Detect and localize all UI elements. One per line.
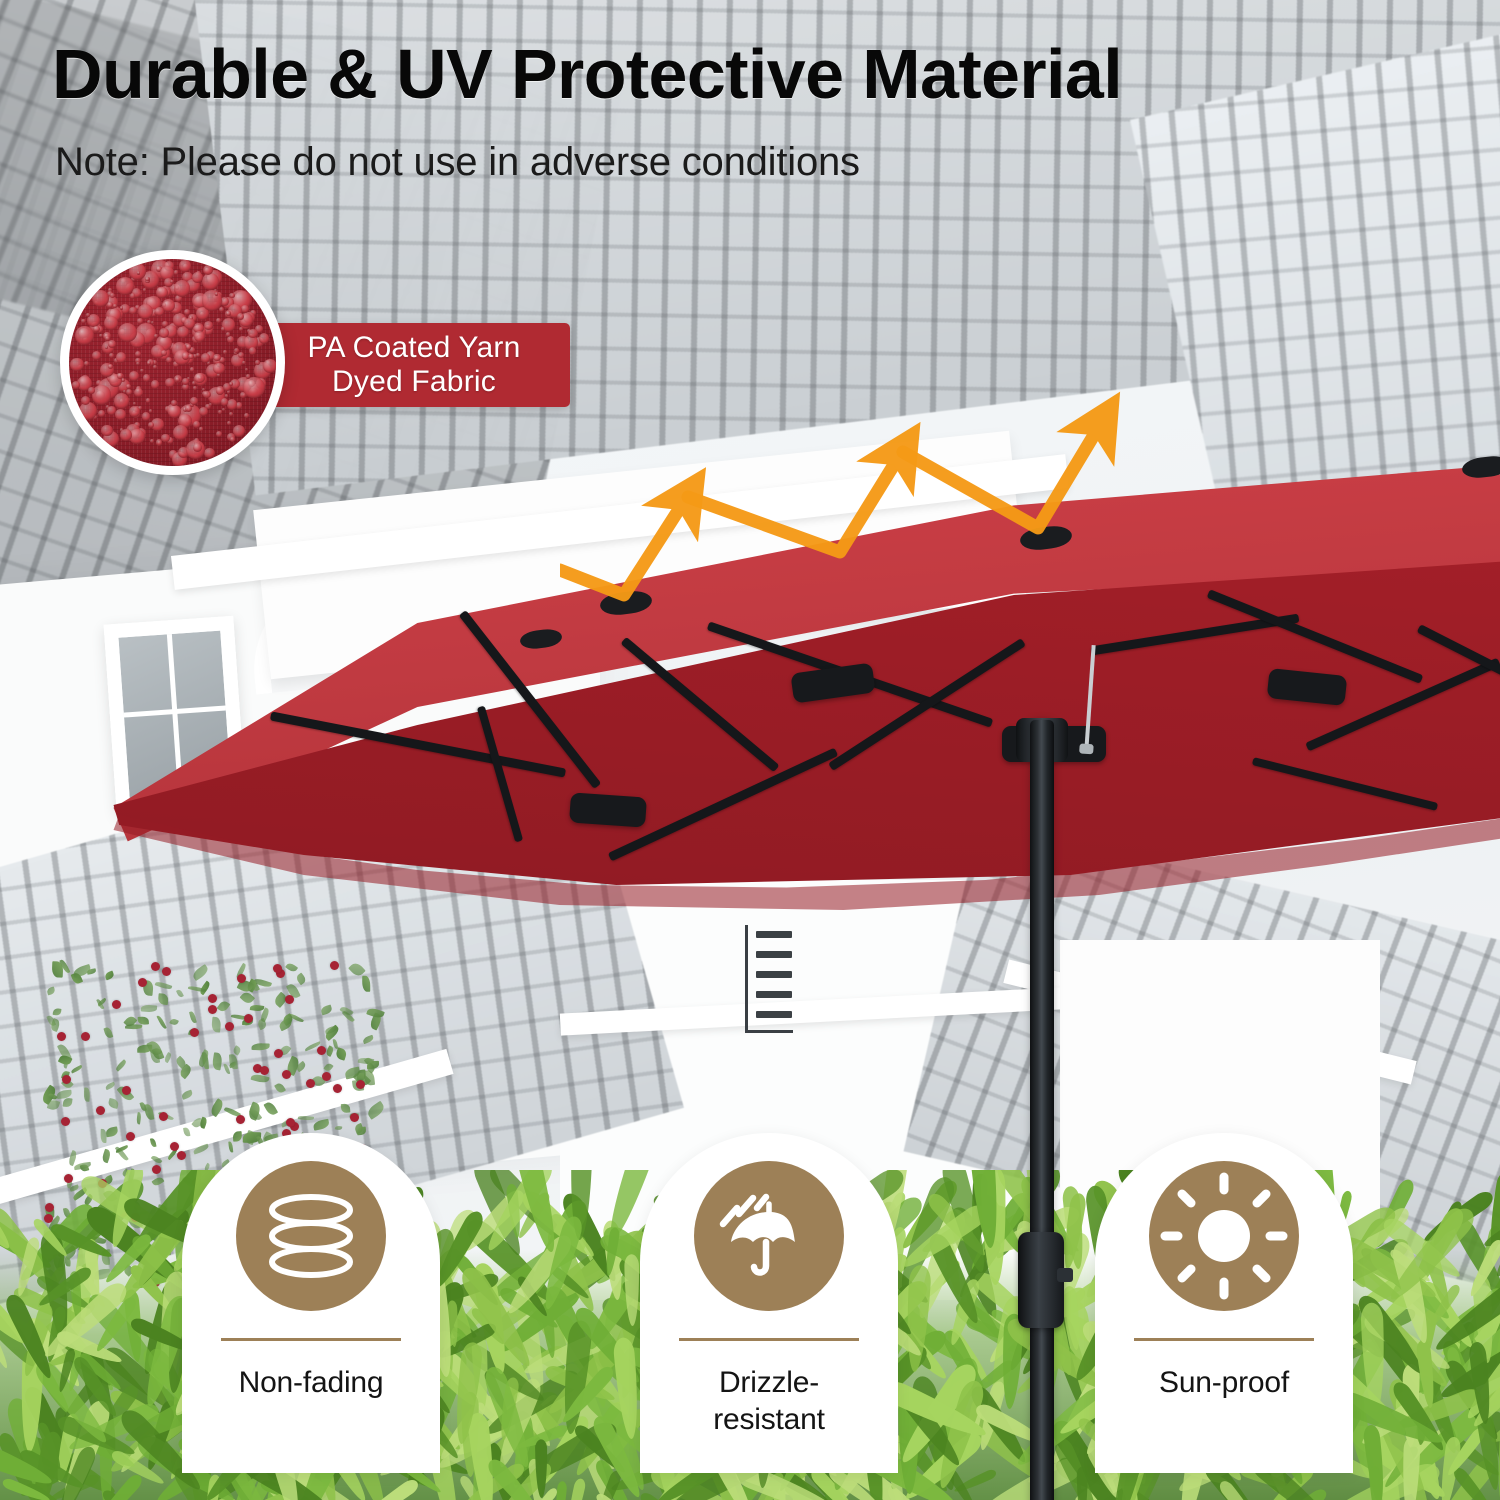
water-droplet xyxy=(221,327,225,331)
water-droplet xyxy=(98,410,105,417)
water-droplet xyxy=(184,318,195,329)
water-droplet xyxy=(219,307,224,312)
feature-card-row: Non-fading Drizzle- resistant xyxy=(0,1133,1500,1500)
water-droplet xyxy=(108,340,116,348)
water-droplet xyxy=(75,326,94,345)
umbrella-rain-icon xyxy=(694,1161,844,1311)
water-droplet xyxy=(203,265,213,275)
water-droplet xyxy=(136,362,139,365)
water-droplet xyxy=(86,313,89,316)
water-droplet xyxy=(248,329,258,339)
water-droplet xyxy=(179,260,190,271)
water-droplet xyxy=(79,402,97,420)
water-droplet xyxy=(182,378,189,385)
water-droplet xyxy=(204,448,214,458)
fabric-swatch xyxy=(60,250,285,475)
feature-card-label: Sun-proof xyxy=(1109,1364,1339,1401)
water-droplet xyxy=(237,313,244,320)
water-droplet xyxy=(218,410,221,413)
water-droplet xyxy=(70,358,83,371)
water-droplet xyxy=(133,402,136,405)
water-droplet xyxy=(110,293,115,298)
fabric-label-line1: PA Coated Yarn xyxy=(308,331,521,365)
fabric-swatch-surface xyxy=(69,259,276,466)
water-droplet xyxy=(243,377,265,399)
water-droplet xyxy=(227,336,234,343)
fabric-label-line2: Dyed Fabric xyxy=(332,365,496,399)
water-droplet xyxy=(120,429,132,441)
page-subtitle: Note: Please do not use in adverse condi… xyxy=(55,140,860,185)
water-droplet xyxy=(221,398,228,405)
water-droplet xyxy=(165,378,175,388)
uv-arrow-1 xyxy=(560,500,685,595)
feature-card-label: Non-fading xyxy=(196,1364,426,1401)
water-droplet xyxy=(199,427,202,430)
water-droplet xyxy=(213,354,221,362)
water-droplet xyxy=(108,364,113,369)
water-droplet xyxy=(88,387,95,394)
water-droplet xyxy=(143,288,146,291)
feature-card-label: Drizzle- resistant xyxy=(654,1364,884,1438)
water-droplet xyxy=(230,437,235,442)
water-droplet xyxy=(84,361,89,366)
water-droplet xyxy=(170,280,173,283)
uv-reflection-arrows xyxy=(560,330,1160,630)
water-droplet xyxy=(151,380,160,389)
water-droplet xyxy=(114,393,130,409)
water-droplet xyxy=(227,399,237,409)
page-title: Durable & UV Protective Material xyxy=(52,34,1122,114)
water-droplet xyxy=(238,352,244,358)
sun-icon xyxy=(1149,1161,1299,1311)
water-droplet xyxy=(129,307,136,314)
feature-card-sun-proof: Sun-proof xyxy=(1095,1133,1353,1473)
water-droplet xyxy=(194,373,205,384)
water-droplet xyxy=(171,400,177,406)
water-droplet xyxy=(156,287,168,299)
water-droplet xyxy=(255,360,260,365)
water-droplet xyxy=(226,332,231,337)
water-droplet xyxy=(203,391,211,399)
water-droplet xyxy=(129,371,139,381)
feature-card-non-fading: Non-fading xyxy=(182,1133,440,1473)
water-droplet xyxy=(161,350,167,356)
water-droplet xyxy=(193,386,197,390)
water-droplet xyxy=(150,439,154,443)
water-droplet xyxy=(161,434,170,443)
stacked-rings-icon xyxy=(236,1161,386,1311)
card-divider xyxy=(221,1338,401,1341)
water-droplet xyxy=(145,277,150,282)
water-droplet xyxy=(186,344,192,350)
feature-card-drizzle-resistant: Drizzle- resistant xyxy=(640,1133,898,1473)
water-droplet xyxy=(192,272,203,283)
card-divider xyxy=(1134,1338,1314,1341)
water-droplet xyxy=(229,293,234,298)
water-droplet xyxy=(99,334,102,337)
water-droplet xyxy=(229,382,233,386)
water-droplet xyxy=(93,326,100,333)
water-droplet xyxy=(174,270,178,274)
water-droplet xyxy=(159,328,169,338)
water-droplet xyxy=(72,381,80,389)
fabric-type-label: PA Coated Yarn Dyed Fabric xyxy=(258,323,570,407)
water-droplet xyxy=(174,280,190,296)
water-droplet xyxy=(81,319,85,323)
water-droplet xyxy=(249,347,257,355)
water-droplet xyxy=(241,305,249,313)
water-droplet xyxy=(101,425,113,437)
water-droplet xyxy=(120,306,123,309)
water-droplet xyxy=(263,359,276,373)
water-droplet xyxy=(239,327,243,331)
water-droplet xyxy=(202,273,219,290)
water-droplet xyxy=(215,292,218,295)
uv-arrow-3 xyxy=(903,425,1100,528)
card-divider xyxy=(679,1338,859,1341)
water-droplet xyxy=(134,388,143,397)
water-droplet xyxy=(244,413,249,418)
umbrella-rib-hub xyxy=(569,792,647,827)
water-droplet xyxy=(154,334,158,338)
water-droplet xyxy=(223,350,227,354)
water-droplet xyxy=(246,374,250,378)
water-droplet xyxy=(155,307,164,316)
water-droplet xyxy=(146,398,150,402)
water-droplet xyxy=(116,277,134,295)
water-droplet xyxy=(147,361,151,365)
uv-arrow-2 xyxy=(688,455,900,552)
water-droplet xyxy=(226,311,231,316)
water-droplet xyxy=(196,353,199,356)
water-droplet xyxy=(227,421,231,425)
